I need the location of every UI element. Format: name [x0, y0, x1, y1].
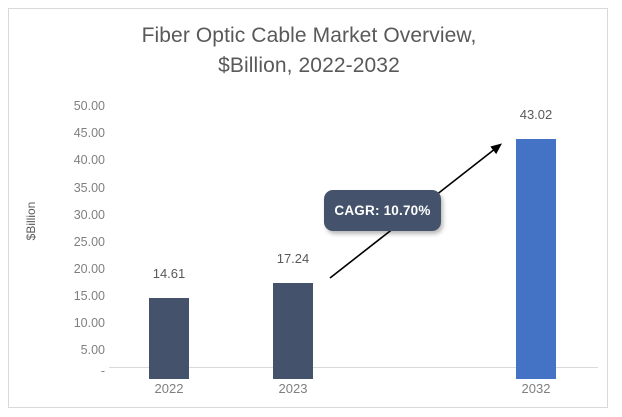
y-tick-label: 15.00 — [51, 290, 105, 302]
y-tick-label: 5.00 — [51, 344, 105, 356]
bar-2023[interactable] — [273, 283, 313, 379]
bar-2032[interactable] — [516, 139, 556, 379]
plot-area: 14.61 2022 17.24 2023 43.02 2032 — [109, 89, 598, 379]
y-tick-label: 35.00 — [51, 182, 105, 194]
bar-value-label-2022: 14.61 — [134, 266, 204, 281]
y-tick-label: 10.00 — [51, 317, 105, 329]
chart-title-line-1: Fiber Optic Cable Market Overview, — [64, 21, 554, 51]
y-tick-label-zero: - — [51, 365, 105, 377]
y-tick-label: 20.00 — [51, 263, 105, 275]
y-tick-label: 45.00 — [51, 127, 105, 139]
y-tick-label: 50.00 — [51, 100, 105, 112]
x-tick-label-2022: 2022 — [129, 381, 209, 396]
chart-title: Fiber Optic Cable Market Overview, $Bill… — [64, 21, 554, 81]
x-tick-label-2032: 2032 — [496, 381, 576, 396]
chart-title-line-2: $Billion, 2022-2032 — [64, 51, 554, 81]
bar-2022[interactable] — [149, 298, 189, 379]
bar-value-label-2032: 43.02 — [501, 107, 571, 122]
y-axis-title: $Billion — [24, 181, 38, 261]
bar-value-label-2023: 17.24 — [258, 251, 328, 266]
y-tick-label: 30.00 — [51, 209, 105, 221]
y-axis-tick-labels: 50.00 45.00 40.00 35.00 30.00 25.00 20.0… — [47, 9, 105, 409]
y-tick-label: 25.00 — [51, 236, 105, 248]
chart-frame: Fiber Optic Cable Market Overview, $Bill… — [8, 8, 608, 408]
x-tick-label-2023: 2023 — [253, 381, 333, 396]
cagr-callout-badge[interactable]: CAGR: 10.70% — [324, 190, 441, 231]
y-tick-label: 40.00 — [51, 154, 105, 166]
